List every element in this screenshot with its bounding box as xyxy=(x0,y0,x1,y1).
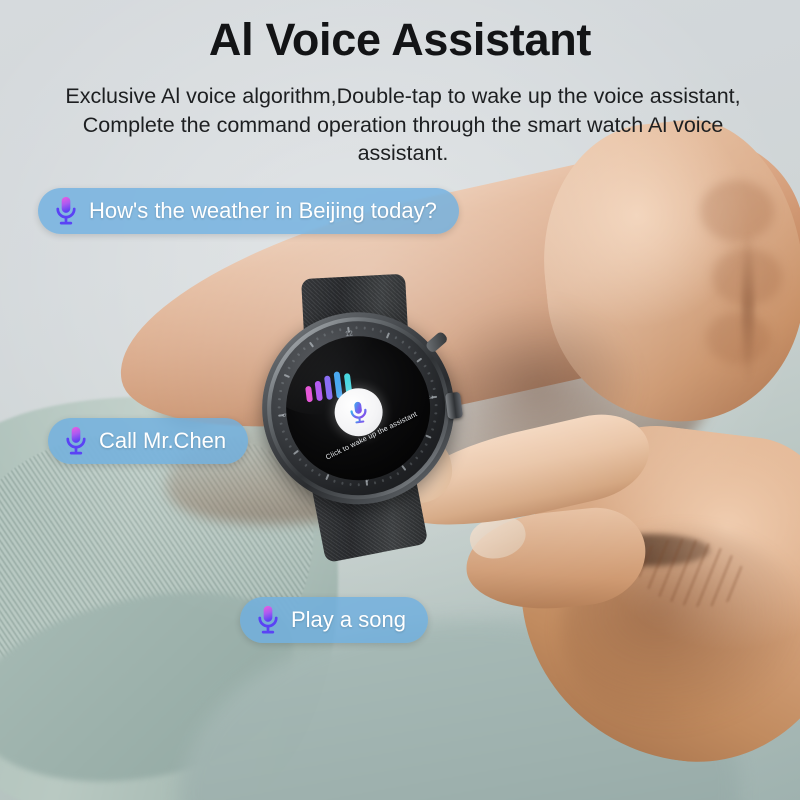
bezel-tick xyxy=(280,423,283,425)
bezel-tick xyxy=(339,328,341,331)
microphone-icon xyxy=(62,425,90,457)
microphone-icon xyxy=(344,398,373,427)
bezel-tick xyxy=(410,462,413,465)
bezel-tick xyxy=(401,340,404,343)
bezel-tick xyxy=(427,372,430,375)
bezel-tick xyxy=(382,479,384,482)
waveform-bar xyxy=(305,386,313,403)
bezel-tick xyxy=(326,474,330,480)
bezel-tick xyxy=(278,399,281,401)
bezel-tick xyxy=(431,428,434,430)
page-subtitle: Exclusive Al voice algorithm,Double-tap … xyxy=(52,82,754,168)
bezel-tick xyxy=(414,351,417,354)
bezel-tick xyxy=(402,465,407,471)
bezel-tick xyxy=(433,388,436,390)
bezel-tick xyxy=(374,481,376,484)
bubble-text: Call Mr.Chen xyxy=(99,429,226,453)
microphone-icon xyxy=(52,195,80,227)
bezel-tick xyxy=(342,482,344,485)
bezel-tick xyxy=(350,483,352,486)
bezel-tick xyxy=(285,438,288,441)
page-title: Al Voice Assistant xyxy=(0,14,800,66)
voice-command-bubble-call[interactable]: Call Mr.Chen xyxy=(48,418,248,464)
bezel-tick xyxy=(426,434,432,438)
bezel-tick xyxy=(425,443,428,446)
bezel-tick xyxy=(305,464,308,467)
bezel-tick xyxy=(372,328,374,331)
bezel-tick xyxy=(417,358,423,363)
bezel-tick xyxy=(433,420,436,422)
bezel-tick xyxy=(430,379,433,381)
bezel-tick xyxy=(331,330,333,333)
watch-case: 12369 xyxy=(251,301,465,515)
product-feature-banner: 12369 xyxy=(0,0,800,800)
bezel-tick xyxy=(424,364,427,367)
bezel-tick xyxy=(278,407,281,409)
bubble-text: How's the weather in Beijing today? xyxy=(89,199,437,223)
microphone-icon xyxy=(254,604,282,636)
bezel-tick xyxy=(435,404,438,406)
bezel-tick xyxy=(311,469,314,472)
bezel-tick xyxy=(421,450,424,453)
waveform-bar xyxy=(315,381,323,402)
bezel-tick xyxy=(435,412,438,414)
bezel-tick xyxy=(356,326,358,329)
bezel-tick xyxy=(334,480,336,483)
bezel-tick xyxy=(299,458,302,461)
waveform-bar xyxy=(324,375,333,400)
smartwatch[interactable]: 12369 xyxy=(236,270,485,545)
bezel-tick xyxy=(289,445,292,448)
bezel-tick xyxy=(390,476,393,479)
bezel-tick xyxy=(408,345,411,348)
voice-command-bubble-weather[interactable]: How's the weather in Beijing today? xyxy=(38,188,459,234)
bezel-tick xyxy=(318,473,321,476)
bezel-tick xyxy=(416,456,419,459)
bezel-tick xyxy=(358,483,360,486)
watch-crown-button[interactable] xyxy=(445,392,463,420)
bezel-tick xyxy=(294,450,300,455)
bezel-tick xyxy=(279,390,282,392)
bezel-tick xyxy=(397,472,400,475)
bezel-tick xyxy=(323,333,326,336)
bezel-tick xyxy=(364,326,366,329)
bezel-tick xyxy=(282,431,285,433)
bubble-text: Play a song xyxy=(291,608,406,632)
voice-command-bubble-music[interactable]: Play a song xyxy=(240,597,428,643)
